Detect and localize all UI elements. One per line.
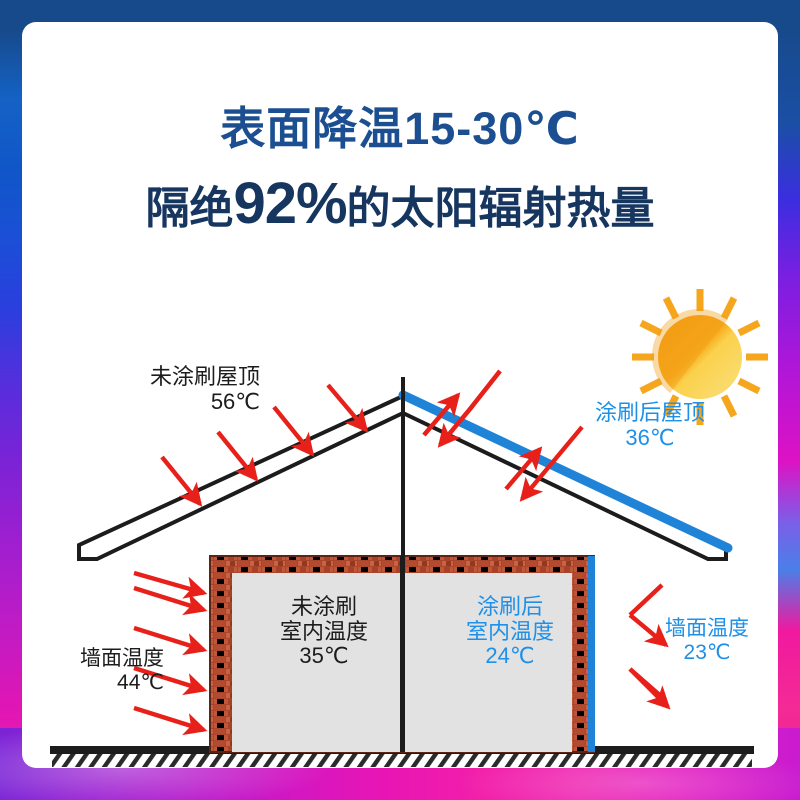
- label-roof-coated-title: 涂刷后屋顶: [595, 400, 705, 425]
- house-diagram: 未涂刷屋顶 56℃ 涂刷后屋顶 36℃ 墙面温度 44℃ 墙面温度 23℃ 未涂…: [22, 267, 778, 767]
- label-wall-uncoated-temp: 44℃: [24, 671, 164, 695]
- label-interior-uncoated-line2: 室内温度: [244, 620, 404, 645]
- headline-secondary: 隔绝92%的太阳辐射热量: [22, 170, 778, 237]
- label-wall-coated: 墙面温度 23℃: [632, 617, 778, 664]
- label-roof-uncoated: 未涂刷屋顶 56℃: [100, 365, 260, 414]
- label-interior-coated: 涂刷后 室内温度 24℃: [430, 595, 590, 669]
- label-interior-uncoated: 未涂刷 室内温度 35℃: [244, 595, 404, 669]
- headline-secondary-prefix: 隔绝: [145, 184, 233, 233]
- label-interior-coated-line1: 涂刷后: [430, 595, 590, 620]
- headline-percent-value: 92%: [233, 171, 346, 236]
- label-roof-coated-temp: 36℃: [570, 426, 730, 451]
- label-roof-uncoated-title: 未涂刷屋顶: [150, 364, 260, 389]
- label-interior-uncoated-temp: 35℃: [244, 644, 404, 669]
- headline-primary: 表面降温15-30℃: [22, 92, 778, 157]
- label-interior-coated-line2: 室内温度: [430, 620, 590, 645]
- ground-hatching: [52, 753, 752, 767]
- label-wall-uncoated: 墙面温度 44℃: [24, 647, 164, 694]
- label-wall-coated-title: 墙面温度: [665, 617, 749, 640]
- roof-uncoated: [79, 396, 403, 559]
- label-wall-uncoated-title: 墙面温度: [80, 647, 164, 670]
- label-interior-coated-temp: 24℃: [430, 644, 590, 669]
- content-card: 表面降温15-30℃ 隔绝92%的太阳辐射热量: [22, 22, 778, 768]
- label-wall-coated-temp: 23℃: [632, 641, 778, 665]
- label-interior-uncoated-line1: 未涂刷: [244, 595, 404, 620]
- label-roof-coated: 涂刷后屋顶 36℃: [570, 401, 730, 450]
- label-roof-uncoated-temp: 56℃: [100, 390, 260, 415]
- headline-secondary-suffix: 的太阳辐射热量: [347, 184, 655, 233]
- page-frame: 表面降温15-30℃ 隔绝92%的太阳辐射热量: [0, 0, 800, 800]
